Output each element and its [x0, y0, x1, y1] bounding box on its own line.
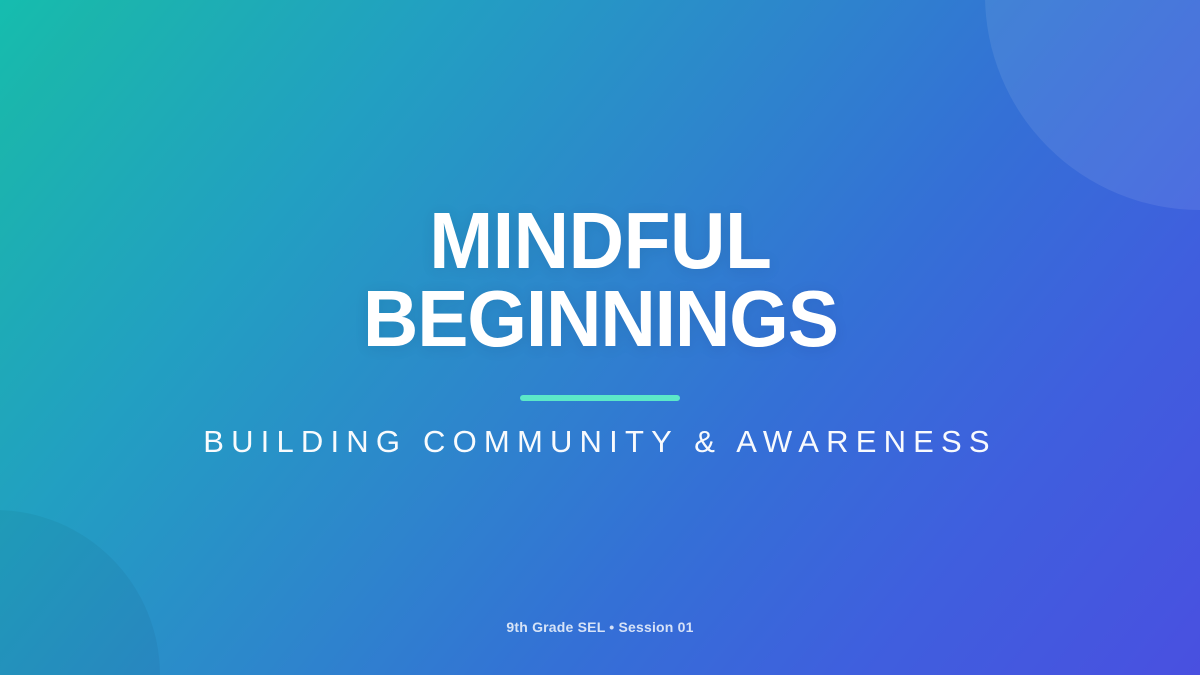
slide-subtitle: BUILDING COMMUNITY & AWARENESS	[203, 424, 997, 460]
slide-title-line-1: MINDFUL	[363, 202, 838, 280]
slide-content: MINDFUL BEGINNINGS BUILDING COMMUNITY & …	[0, 0, 1200, 675]
slide-title-line-2: BEGINNINGS	[363, 280, 838, 358]
accent-divider	[520, 395, 680, 401]
slide-footer: 9th Grade SEL • Session 01	[0, 619, 1200, 635]
slide-title: MINDFUL BEGINNINGS	[363, 202, 838, 358]
title-slide: MINDFUL BEGINNINGS BUILDING COMMUNITY & …	[0, 0, 1200, 675]
